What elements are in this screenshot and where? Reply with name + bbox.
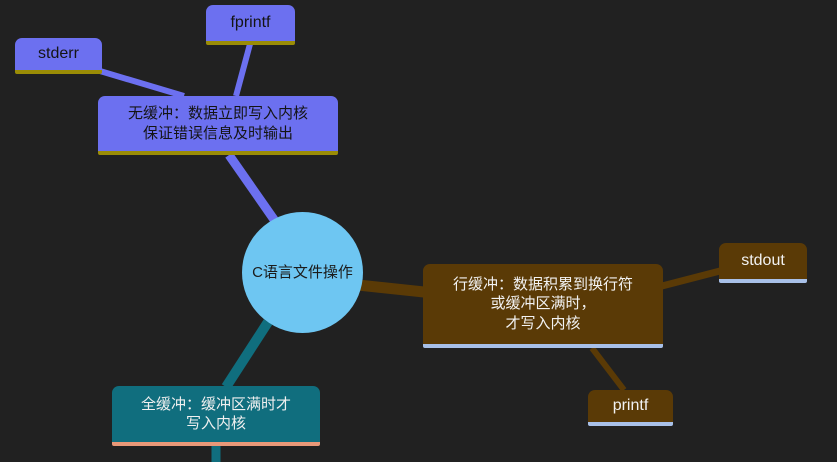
node-stdout[interactable]: stdout [719,243,807,283]
node-unbuffered-description[interactable]: 无缓冲：数据立即写入内核 保证错误信息及时输出 [98,96,338,155]
mindmap-canvas: stderr fprintf 无缓冲：数据立即写入内核 保证错误信息及时输出 C… [0,0,837,462]
edge-linebuffered-stdout [662,271,720,286]
edge-unbuffered-stderr [100,71,184,96]
node-unbuffered-line-1: 保证错误信息及时输出 [143,124,293,143]
node-root-c-file-operations[interactable]: C语言文件操作 [242,212,363,333]
edge-unbuffered-fprintf [236,44,250,96]
node-fprintf[interactable]: fprintf [206,5,295,45]
node-unbuffered-line-0: 无缓冲：数据立即写入内核 [128,104,308,123]
node-full-buffered-line-1: 写入内核 [186,414,246,433]
node-full-buffered-description[interactable]: 全缓冲：缓冲区满时才 写入内核 [112,386,320,446]
node-stdout-line-0: stdout [741,251,785,271]
edge-root-fullbuffered [226,322,268,387]
node-fprintf-line-0: fprintf [230,13,270,33]
node-line-buffered-line-2: 才写入内核 [505,314,580,333]
node-printf[interactable]: printf [588,390,673,426]
node-line-buffered-line-1: 或缓冲区满时， [490,294,595,313]
node-stderr[interactable]: stderr [15,38,102,74]
edge-root-linebuffered [358,285,424,292]
node-line-buffered-line-0: 行缓冲：数据积累到换行符 [453,275,633,294]
node-full-buffered-line-0: 全缓冲：缓冲区满时才 [141,395,291,414]
edge-linebuffered-printf [592,348,624,390]
node-root-label: C语言文件操作 [252,263,353,282]
node-printf-line-0: printf [613,396,649,416]
edge-root-unbuffered [229,155,275,221]
node-stderr-line-0: stderr [38,44,79,64]
node-line-buffered-description[interactable]: 行缓冲：数据积累到换行符 或缓冲区满时， 才写入内核 [423,264,663,348]
